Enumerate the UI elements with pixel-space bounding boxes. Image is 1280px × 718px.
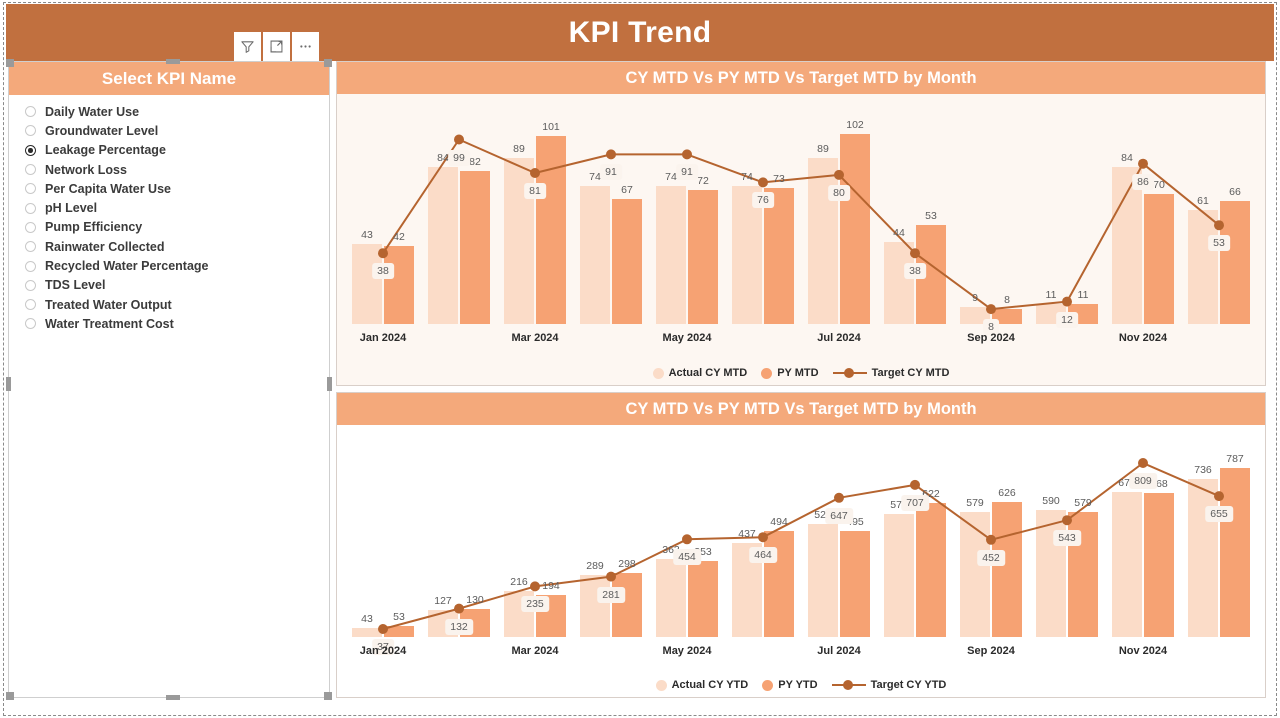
bar-actual[interactable]	[960, 307, 990, 324]
slicer-item-daily-water-use[interactable]: Daily Water Use	[25, 102, 329, 121]
slicer-item-label: Daily Water Use	[45, 105, 139, 119]
slicer-option-list: Daily Water UseGroundwater LevelLeakage …	[9, 95, 329, 334]
legend-label: Actual CY MTD	[669, 367, 748, 379]
bar-actual[interactable]	[732, 186, 762, 324]
bar-py[interactable]	[992, 502, 1022, 637]
report-page: KPI Trend	[0, 0, 1280, 718]
radio-icon[interactable]	[25, 241, 36, 252]
bar-py[interactable]	[916, 503, 946, 637]
bar-py[interactable]	[612, 199, 642, 324]
bar-actual[interactable]	[352, 628, 382, 637]
bar-py[interactable]	[688, 190, 718, 324]
bar-py[interactable]	[688, 561, 718, 637]
slicer-item-groundwater-level[interactable]: Groundwater Level	[25, 121, 329, 140]
bar-actual[interactable]	[884, 514, 914, 637]
bar-py[interactable]	[992, 309, 1022, 324]
slicer-title: Select KPI Name	[102, 69, 236, 89]
radio-icon[interactable]	[25, 222, 36, 233]
legend-swatch	[762, 680, 773, 691]
bar-actual[interactable]	[1188, 210, 1218, 324]
slicer-item-water-treatment-cost[interactable]: Water Treatment Cost	[25, 314, 329, 333]
bar-actual[interactable]	[1036, 304, 1066, 325]
legend-item[interactable]: PY YTD	[762, 679, 817, 691]
bar-py[interactable]	[916, 225, 946, 324]
legend-item[interactable]: Target CY YTD	[832, 679, 947, 691]
bar-actual[interactable]	[1112, 492, 1142, 637]
radio-icon[interactable]	[25, 183, 36, 194]
bar-actual[interactable]	[428, 167, 458, 324]
bar-actual[interactable]	[732, 543, 762, 637]
slicer-item-treated-water-output[interactable]: Treated Water Output	[25, 295, 329, 314]
report-header: KPI Trend	[6, 4, 1274, 61]
page-title: KPI Trend	[569, 16, 712, 50]
legend-label: Actual CY YTD	[672, 679, 749, 691]
legend-item[interactable]: PY MTD	[761, 367, 818, 379]
legend-line-marker	[833, 368, 867, 379]
legend-label: Target CY MTD	[872, 367, 950, 379]
slicer-item-label: Pump Efficiency	[45, 220, 142, 234]
bars-layer-mtd	[337, 94, 1265, 349]
bar-py[interactable]	[1068, 304, 1098, 325]
slicer-item-label: Rainwater Collected	[45, 240, 164, 254]
bar-py[interactable]	[1144, 194, 1174, 324]
slicer-item-label: Per Capita Water Use	[45, 182, 171, 196]
bar-py[interactable]	[840, 531, 870, 637]
chart-plot-mtd: 4342388482998910181746791747291747376891…	[337, 94, 1265, 349]
slicer-item-label: Treated Water Output	[45, 298, 172, 312]
chart-legend-mtd: Actual CY MTDPY MTDTarget CY MTD	[337, 367, 1265, 379]
bar-py[interactable]	[460, 171, 490, 324]
filter-icon[interactable]	[234, 32, 261, 61]
slicer-item-label: TDS Level	[45, 278, 105, 292]
bar-py[interactable]	[384, 626, 414, 637]
bar-actual[interactable]	[428, 610, 458, 637]
chart-title-mtd: CY MTD Vs PY MTD Vs Target MTD by Month	[625, 69, 976, 88]
legend-swatch	[653, 368, 664, 379]
slicer-item-tds-level[interactable]: TDS Level	[25, 276, 329, 295]
chart-card-mtd: CY MTD Vs PY MTD Vs Target MTD by Month …	[336, 61, 1266, 386]
radio-icon[interactable]	[25, 203, 36, 214]
slicer-item-label: Network Loss	[45, 163, 127, 177]
chart-title-ytd: CY MTD Vs PY MTD Vs Target MTD by Month	[625, 400, 976, 419]
slicer-item-label: pH Level	[45, 201, 97, 215]
bar-py[interactable]	[840, 134, 870, 324]
bar-actual[interactable]	[504, 591, 534, 637]
slicer-item-rainwater-collected[interactable]: Rainwater Collected	[25, 237, 329, 256]
legend-label: PY MTD	[777, 367, 818, 379]
kpi-slicer[interactable]: Select KPI Name Daily Water UseGroundwat…	[8, 61, 330, 698]
slicer-item-label: Leakage Percentage	[45, 143, 166, 157]
radio-icon[interactable]	[25, 106, 36, 117]
legend-item[interactable]: Actual CY MTD	[653, 367, 748, 379]
legend-swatch	[656, 680, 667, 691]
slicer-item-label: Water Treatment Cost	[45, 317, 174, 331]
bar-py[interactable]	[1068, 512, 1098, 637]
chart-header-mtd: CY MTD Vs PY MTD Vs Target MTD by Month	[337, 62, 1265, 94]
bar-actual[interactable]	[352, 244, 382, 324]
bar-py[interactable]	[612, 573, 642, 637]
bar-actual[interactable]	[504, 158, 534, 324]
slicer-item-per-capita-water-use[interactable]: Per Capita Water Use	[25, 179, 329, 198]
bar-actual[interactable]	[1188, 479, 1218, 637]
bar-actual[interactable]	[1112, 167, 1142, 324]
radio-icon[interactable]	[25, 164, 36, 175]
slicer-item-leakage-percentage[interactable]: Leakage Percentage	[25, 141, 329, 160]
slicer-item-network-loss[interactable]: Network Loss	[25, 160, 329, 179]
bar-py[interactable]	[384, 246, 414, 324]
more-options-icon[interactable]	[292, 32, 319, 61]
bar-actual[interactable]	[656, 559, 686, 637]
bar-py[interactable]	[764, 531, 794, 637]
legend-label: PY YTD	[778, 679, 817, 691]
legend-swatch	[761, 368, 772, 379]
radio-icon[interactable]	[25, 261, 36, 272]
slicer-item-ph-level[interactable]: pH Level	[25, 198, 329, 217]
focus-mode-icon[interactable]	[263, 32, 290, 61]
legend-item[interactable]: Target CY MTD	[833, 367, 950, 379]
bar-actual[interactable]	[1036, 510, 1066, 637]
legend-item[interactable]: Actual CY YTD	[656, 679, 749, 691]
bar-actual[interactable]	[808, 158, 838, 324]
radio-icon[interactable]	[25, 280, 36, 291]
slicer-item-label: Groundwater Level	[45, 124, 158, 138]
radio-icon[interactable]	[25, 318, 36, 329]
bar-py[interactable]	[1144, 493, 1174, 637]
slicer-item-recycled-water-percentage[interactable]: Recycled Water Percentage	[25, 256, 329, 275]
visual-toolbar	[234, 32, 319, 61]
radio-icon[interactable]	[25, 125, 36, 136]
chart-plot-ytd: 4353371271301322161942352892982813633534…	[337, 425, 1265, 660]
legend-line-marker	[832, 680, 866, 691]
slicer-item-label: Recycled Water Percentage	[45, 259, 209, 273]
bar-py[interactable]	[536, 595, 566, 637]
radio-icon[interactable]	[25, 299, 36, 310]
bar-py[interactable]	[460, 609, 490, 637]
bar-actual[interactable]	[656, 186, 686, 324]
bar-actual[interactable]	[580, 186, 610, 324]
legend-label: Target CY YTD	[871, 679, 947, 691]
bar-py[interactable]	[536, 136, 566, 324]
chart-card-ytd: CY MTD Vs PY MTD Vs Target MTD by Month …	[336, 392, 1266, 698]
bar-actual[interactable]	[884, 242, 914, 324]
bar-actual[interactable]	[580, 575, 610, 637]
bar-py[interactable]	[1220, 201, 1250, 324]
bars-layer-ytd	[337, 425, 1265, 660]
radio-icon[interactable]	[25, 145, 36, 156]
bar-py[interactable]	[764, 188, 794, 324]
slicer-header: Select KPI Name	[9, 62, 329, 95]
chart-header-ytd: CY MTD Vs PY MTD Vs Target MTD by Month	[337, 393, 1265, 425]
bar-actual[interactable]	[960, 512, 990, 637]
bar-actual[interactable]	[808, 524, 838, 637]
chart-legend-ytd: Actual CY YTDPY YTDTarget CY YTD	[337, 679, 1265, 691]
bar-py[interactable]	[1220, 468, 1250, 637]
slicer-item-pump-efficiency[interactable]: Pump Efficiency	[25, 218, 329, 237]
